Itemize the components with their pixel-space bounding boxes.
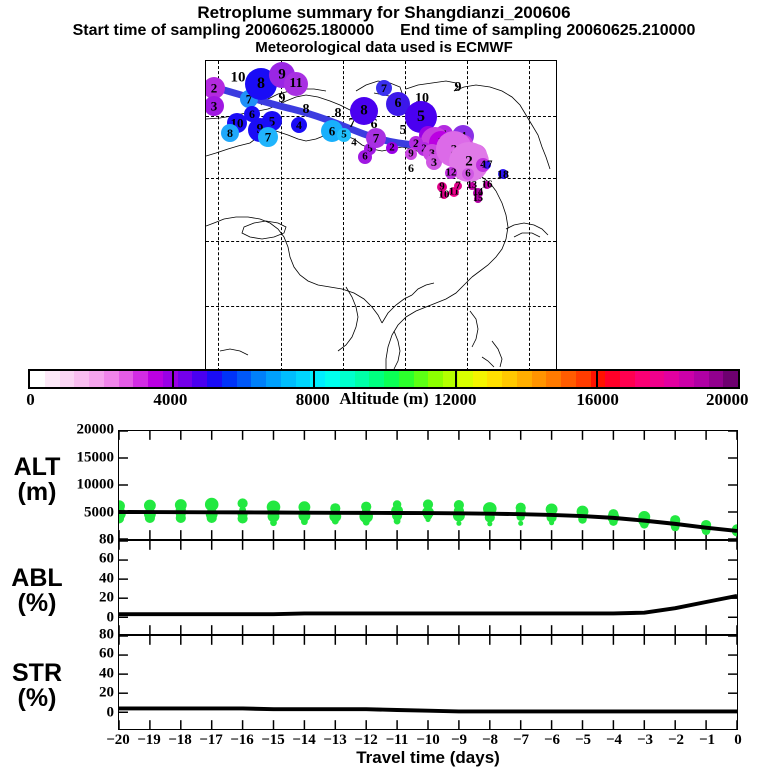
colorbar-major-break: [455, 371, 457, 387]
colorbar-segment: [620, 371, 635, 387]
alt-scatter-point: [270, 519, 277, 526]
map-bubble-day-label: 5: [417, 109, 425, 125]
colorbar-segment: [355, 371, 370, 387]
trajectory-line: [206, 61, 556, 371]
y-tick-label: 20: [54, 685, 114, 702]
map-bubble-day-label: 12: [446, 168, 457, 179]
colorbar-segment: [104, 371, 119, 387]
y-tick-label: 10000: [54, 477, 114, 494]
colorbar-segment: [709, 371, 724, 387]
x-tick-label: −11: [386, 732, 409, 749]
colorbar-segment: [414, 371, 429, 387]
colorbar-segment: [30, 371, 45, 387]
colorbar-segment: [163, 371, 178, 387]
y-tick-label: 80: [54, 627, 114, 644]
colorbar-segment: [635, 371, 650, 387]
alt-scatter-point: [207, 513, 217, 523]
alt-scatter-point: [332, 518, 339, 525]
alt-scatter-point: [456, 521, 461, 526]
colorbar-segment: [325, 371, 340, 387]
colorbar-segment: [664, 371, 679, 387]
met-data-label: Meteorological data used is ECMWF: [0, 40, 768, 56]
str-plot[interactable]: [118, 635, 738, 730]
map-bubble-day-label: 4: [296, 119, 302, 131]
map-bubble-day-label: 4: [351, 138, 357, 149]
colorbar-segment: [650, 371, 665, 387]
colorbar-major-break: [313, 371, 315, 387]
x-tick-label: 0: [734, 732, 742, 749]
xaxis-title: Travel time (days): [118, 748, 738, 768]
map-bubble-day-label: 8: [257, 76, 265, 92]
colorbar-segment: [237, 371, 252, 387]
x-tick-label: −5: [575, 732, 591, 749]
x-tick-label: −7: [513, 732, 529, 749]
abl-plot-svg: [119, 541, 737, 634]
map-bubble-day-label: 7: [455, 181, 461, 192]
map-bubble-day-label: 6: [362, 152, 368, 163]
map-bubble-day-label: 9: [279, 92, 286, 106]
alt-scatter-point: [549, 520, 554, 525]
colorbar-segment: [723, 371, 738, 387]
y-tick-label: 20000: [54, 422, 114, 439]
y-tick-label: 5000: [54, 504, 114, 521]
x-tick-label: −12: [354, 732, 378, 749]
map-bubble-day-label: 7: [373, 132, 380, 145]
colorbar-segment: [251, 371, 266, 387]
colorbar-segment: [517, 371, 532, 387]
page-title: Retroplume summary for Shangdianzi_20060…: [0, 0, 768, 22]
colorbar-axis-title: Altitude (m): [28, 389, 740, 409]
colorbar-segment: [192, 371, 207, 387]
colorbar-segment: [60, 371, 75, 387]
altitude-colorbar: 040008000120001600020000 Altitude (m): [28, 369, 740, 411]
start-time-label: Start time of sampling 20060625.180000: [73, 22, 375, 39]
x-tick-label: −3: [637, 732, 653, 749]
end-time-label: End time of sampling 20060625.210000: [400, 22, 695, 39]
alt-scatter-point: [487, 521, 492, 526]
y-tick-label: 0: [54, 704, 114, 721]
y-tick-label: 60: [54, 551, 114, 568]
colorbar-segment: [45, 371, 60, 387]
x-tick-label: −13: [323, 732, 347, 749]
x-tick-label: −19: [137, 732, 161, 749]
map-bubble-day-label: 7: [265, 131, 272, 144]
colorbar-major-break: [596, 371, 598, 387]
colorbar-segment: [502, 371, 517, 387]
alt-scatter-point: [238, 513, 248, 523]
retroplume-map[interactable]: 2310789119861058974654567287657681059435…: [205, 60, 557, 372]
colorbar-segment: [694, 371, 709, 387]
colorbar-segment: [222, 371, 237, 387]
y-tick-label: 40: [54, 570, 114, 587]
colorbar-segment: [207, 371, 222, 387]
y-tick-label: 0: [54, 609, 114, 626]
map-bubble-day-label: 8: [335, 107, 342, 121]
colorbar-segment: [133, 371, 148, 387]
map-bubble-day-label: 2: [389, 143, 395, 154]
colorbar-segment: [576, 371, 591, 387]
colorbar-segment: [561, 371, 576, 387]
map-bubble-day-label: 6: [408, 162, 414, 174]
alt-plot-svg: [119, 431, 737, 539]
map-bubble-day-label: 5: [400, 124, 407, 138]
colorbar-segment: [399, 371, 414, 387]
map-inner: 2310789119861058974654567287657681059435…: [206, 61, 556, 371]
map-bubble-day-label: 2: [211, 82, 218, 95]
colorbar-segment: [266, 371, 281, 387]
x-tick-label: −17: [199, 732, 223, 749]
x-tick-label: −8: [482, 732, 498, 749]
x-tick-label: −10: [416, 732, 440, 749]
colorbar-segment: [546, 371, 561, 387]
colorbar-segment: [281, 371, 296, 387]
y-tick-label: 15000: [54, 449, 114, 466]
colorbar-segment: [74, 371, 89, 387]
x-tick-label: −9: [451, 732, 467, 749]
colorbar-segment: [89, 371, 104, 387]
y-tick-label: 60: [54, 646, 114, 663]
alt-plot[interactable]: [118, 430, 738, 540]
map-bubble-day-label: 6: [465, 169, 471, 180]
map-bubble-day-label: 8: [360, 104, 368, 119]
str-plot-svg: [119, 636, 737, 729]
colorbar-segment: [532, 371, 547, 387]
colorbar-segment: [487, 371, 502, 387]
abl-plot[interactable]: [118, 540, 738, 635]
colorbar-segment: [473, 371, 488, 387]
figure-title-block: Retroplume summary for Shangdianzi_20060…: [0, 0, 768, 56]
x-tick-label: −18: [168, 732, 192, 749]
x-tick-label: −2: [668, 732, 684, 749]
map-bubble-day-label: 9: [408, 149, 414, 160]
alt-scatter-point: [176, 513, 186, 523]
map-bubble-day-label: 8: [227, 127, 233, 139]
colorbar-segment: [458, 371, 473, 387]
colorbar-gradient: [28, 369, 740, 389]
colorbar-segment: [148, 371, 163, 387]
colorbar-segment: [679, 371, 694, 387]
alt-scatter-point: [425, 517, 430, 522]
colorbar-segment: [178, 371, 193, 387]
sampling-time-line: Start time of sampling 20060625.180000En…: [0, 22, 768, 39]
map-bubble-day-label: 18: [497, 168, 509, 180]
x-tick-label: −16: [230, 732, 254, 749]
colorbar-segment: [384, 371, 399, 387]
colorbar-major-break: [172, 371, 174, 387]
alt-scatter-point: [301, 518, 308, 525]
map-bubble-day-label: 6: [395, 97, 402, 111]
map-bubble-day-label: 15: [473, 194, 483, 204]
colorbar-segment: [340, 371, 355, 387]
x-tick-label: −4: [606, 732, 622, 749]
map-bubble-day-label: 3: [211, 100, 218, 113]
y-tick-label: 20: [54, 590, 114, 607]
map-bubble-day-label: 11: [289, 77, 302, 91]
x-tick-label: −14: [292, 732, 316, 749]
y-tick-label: 80: [54, 532, 114, 549]
colorbar-segment: [119, 371, 134, 387]
x-tick-label: −6: [544, 732, 560, 749]
x-tick-label: −1: [699, 732, 715, 749]
map-bubble-day-label: 16: [482, 180, 493, 191]
map-bubble-day-label: 9: [455, 81, 462, 95]
alt-scatter-point: [518, 521, 523, 526]
x-tick-label: −15: [261, 732, 285, 749]
x-tick-label: −20: [106, 732, 130, 749]
map-bubble-day-label: 10: [231, 71, 246, 86]
colorbar-segment: [428, 371, 443, 387]
colorbar-segment: [605, 371, 620, 387]
colorbar-segment: [369, 371, 384, 387]
alt-scatter-point: [145, 513, 155, 523]
map-bubble-day-label: 17: [482, 160, 493, 171]
map-bubble-day-label: 3: [431, 156, 437, 168]
y-tick-label: 40: [54, 665, 114, 682]
map-bubble-day-label: 7: [381, 82, 387, 94]
map-bubble-day-label: 6: [329, 125, 336, 138]
map-bubble-day-label: 8: [303, 103, 310, 117]
colorbar-segment: [296, 371, 311, 387]
alt-scatter-point: [394, 518, 401, 525]
map-bubble-day-label: 5: [341, 130, 347, 141]
alt-scatter-point: [363, 519, 370, 526]
